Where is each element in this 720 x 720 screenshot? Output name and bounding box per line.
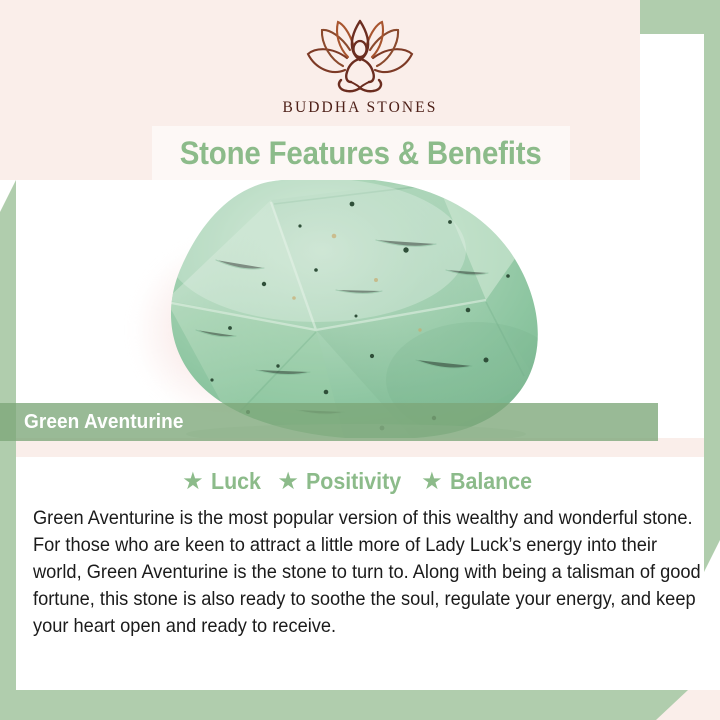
stone-name-label: Green Aventurine bbox=[24, 411, 184, 434]
stone-description: Green Aventurine is the most popular ver… bbox=[33, 506, 702, 641]
feature-label: Balance bbox=[450, 468, 532, 495]
brand-name: BUDDHA STONES bbox=[283, 99, 438, 117]
star-icon: ★ bbox=[182, 470, 204, 494]
footer-pink-panel bbox=[0, 690, 720, 720]
stone-photo bbox=[16, 180, 704, 438]
lotus-meditation-icon bbox=[301, 18, 419, 96]
feature-list: ★ Luck ★ Positivity ★ Balance bbox=[16, 457, 704, 495]
brand-logo: BUDDHA STONES bbox=[0, 18, 720, 117]
star-icon: ★ bbox=[421, 470, 443, 494]
star-icon: ★ bbox=[277, 470, 299, 494]
stone-name-band: Green Aventurine bbox=[0, 403, 658, 441]
feature-label: Positivity bbox=[306, 468, 401, 495]
feature-item-luck: ★ Luck bbox=[182, 468, 264, 495]
feature-item-balance: ★ Balance bbox=[421, 468, 538, 495]
stone-info-section: ★ Luck ★ Positivity ★ Balance Green Aven… bbox=[16, 457, 704, 690]
title-banner: Stone Features & Benefits bbox=[152, 126, 570, 180]
feature-label: Luck bbox=[211, 468, 261, 495]
green-aventurine-stone-image bbox=[16, 180, 704, 438]
feature-item-positivity: ★ Positivity bbox=[277, 468, 408, 495]
page-title: Stone Features & Benefits bbox=[180, 135, 542, 172]
